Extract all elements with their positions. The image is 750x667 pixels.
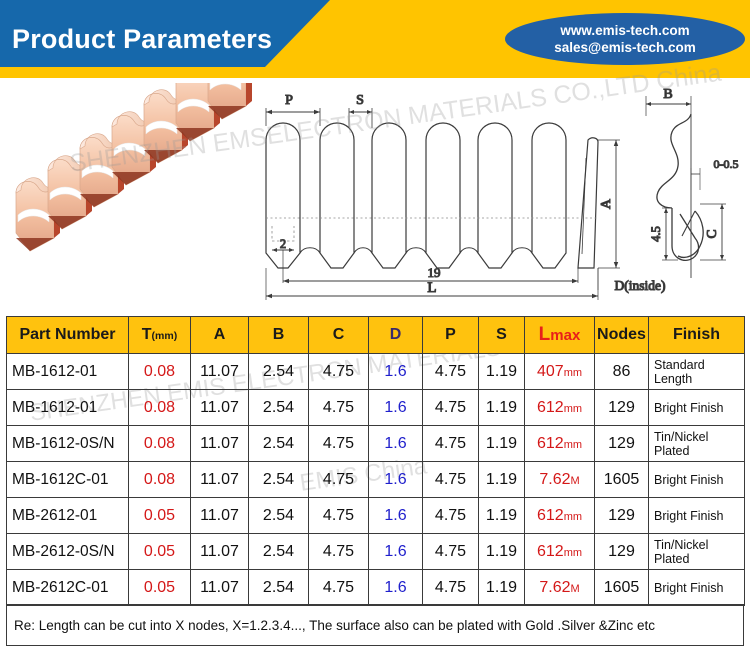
cell-part-number: MB-2612-0S/N [7,534,129,570]
parameters-table-wrap: Part Number T(mm) A B C D P S Lmax Nodes… [6,316,744,606]
dim-label-a: A [599,198,614,209]
col-part-number: Part Number [7,317,129,354]
cell-d: 1.6 [369,570,423,606]
cell-s: 1.19 [479,426,525,462]
cell-nodes: 129 [595,534,649,570]
dim-label-2: 2 [280,237,286,251]
cell-lmax-unit: mm [564,439,582,451]
cell-d: 1.6 [369,498,423,534]
cell-p: 4.75 [423,462,479,498]
cell-d: 1.6 [369,354,423,390]
col-lmax: Lmax [525,317,595,354]
cell-b: 2.54 [249,390,309,426]
cell-thickness: 0.08 [129,462,191,498]
cell-d: 1.6 [369,462,423,498]
table-row: MB-1612C-010.0811.072.544.751.64.751.197… [7,462,745,498]
cell-d: 1.6 [369,426,423,462]
cell-lmax-unit: mm [564,367,582,379]
cell-s: 1.19 [479,354,525,390]
dim-label-b: B [663,87,672,102]
cell-lmax-value: 612 [537,435,564,452]
col-d: D [369,317,423,354]
table-row: MB-2612-010.0511.072.544.751.64.751.1961… [7,498,745,534]
cell-finish: Standard Length [649,354,745,390]
cell-lmax-value: 7.62 [539,579,570,596]
col-b: B [249,317,309,354]
parameters-table: Part Number T(mm) A B C D P S Lmax Nodes… [6,316,745,606]
cell-part-number: MB-2612C-01 [7,570,129,606]
cell-lmax-value: 612 [537,399,564,416]
cell-a: 11.07 [191,354,249,390]
cell-a: 11.07 [191,498,249,534]
cell-part-number: MB-1612-0S/N [7,426,129,462]
footnote: Re: Length can be cut into X nodes, X=1.… [6,604,744,646]
cell-lmax: 407mm [525,354,595,390]
dim-label-4-5: 4.5 [649,226,663,242]
cell-finish: Tin/Nickel Plated [649,426,745,462]
col-lmax-l: L [539,324,551,345]
col-s: S [479,317,525,354]
dim-label-c: C [704,229,719,238]
cell-part-number: MB-2612-01 [7,498,129,534]
cell-c: 4.75 [309,390,369,426]
cell-lmax-unit: mm [564,547,582,559]
cell-thickness: 0.08 [129,354,191,390]
cell-b: 2.54 [249,354,309,390]
cell-finish: Bright Finish [649,498,745,534]
cell-c: 4.75 [309,462,369,498]
col-a: A [191,317,249,354]
cell-p: 4.75 [423,354,479,390]
cell-nodes: 86 [595,354,649,390]
cell-b: 2.54 [249,498,309,534]
dim-label-d-inside: D(inside) [615,278,666,293]
cell-b: 2.54 [249,426,309,462]
page-title: Product Parameters [12,24,272,55]
cell-p: 4.75 [423,534,479,570]
table-header-row: Part Number T(mm) A B C D P S Lmax Nodes… [7,317,745,354]
cell-s: 1.19 [479,570,525,606]
cell-finish: Tin/Nickel Plated [649,534,745,570]
cell-finish: Bright Finish [649,570,745,606]
col-t-label: T [142,326,152,343]
cell-thickness: 0.08 [129,390,191,426]
table-row: MB-1612-010.0811.072.544.751.64.751.1940… [7,354,745,390]
cell-d: 1.6 [369,534,423,570]
col-t-unit: (mm) [152,330,178,342]
col-lmax-max: max [550,327,580,344]
contact-email[interactable]: sales@emis-tech.com [554,40,695,56]
cell-lmax: 612mm [525,498,595,534]
cell-lmax: 612mm [525,390,595,426]
cell-d: 1.6 [369,390,423,426]
cell-c: 4.75 [309,570,369,606]
technical-drawing: P S [248,78,750,310]
cell-nodes: 1605 [595,462,649,498]
cell-nodes: 129 [595,498,649,534]
cell-b: 2.54 [249,462,309,498]
drawing-area: P S [0,78,750,310]
cell-finish: Bright Finish [649,462,745,498]
cell-nodes: 129 [595,426,649,462]
cell-lmax-unit: M [570,583,579,595]
cell-lmax-value: 7.62 [539,471,570,488]
cell-thickness: 0.05 [129,570,191,606]
cell-lmax-value: 407 [537,363,564,380]
contact-website[interactable]: www.emis-tech.com [560,23,689,39]
dim-label-s: S [356,93,364,108]
cell-thickness: 0.05 [129,498,191,534]
cell-lmax-value: 612 [537,507,564,524]
cell-lmax: 612mm [525,534,595,570]
cell-lmax: 7.62M [525,462,595,498]
cell-lmax: 612mm [525,426,595,462]
cell-p: 4.75 [423,570,479,606]
col-thickness: T(mm) [129,317,191,354]
dim-label-p: P [285,93,293,108]
cell-a: 11.07 [191,390,249,426]
cell-c: 4.75 [309,354,369,390]
cell-a: 11.07 [191,534,249,570]
cell-part-number: MB-1612C-01 [7,462,129,498]
cell-c: 4.75 [309,534,369,570]
dim-label-gap: 0-0.5 [714,157,739,171]
cell-part-number: MB-1612-01 [7,354,129,390]
cell-a: 11.07 [191,462,249,498]
table-row: MB-1612-0S/N0.0811.072.544.751.64.751.19… [7,426,745,462]
dim-label-l: L [427,280,436,296]
cell-nodes: 129 [595,390,649,426]
cell-c: 4.75 [309,426,369,462]
cell-p: 4.75 [423,426,479,462]
cell-p: 4.75 [423,498,479,534]
cell-s: 1.19 [479,390,525,426]
cell-p: 4.75 [423,390,479,426]
cross-section-profile [657,114,691,208]
product-photo [8,83,253,278]
table-row: MB-2612C-010.0511.072.544.751.64.751.197… [7,570,745,606]
cell-lmax-unit: mm [564,403,582,415]
header-banner: Product Parameters www.emis-tech.com sal… [0,0,750,78]
cell-thickness: 0.08 [129,426,191,462]
col-c: C [309,317,369,354]
cell-lmax: 7.62M [525,570,595,606]
cell-lmax-unit: M [570,475,579,487]
cell-nodes: 1605 [595,570,649,606]
col-nodes: Nodes [595,317,649,354]
dim-label-19: 19 [428,265,441,280]
table-row: MB-2612-0S/N0.0511.072.544.751.64.751.19… [7,534,745,570]
cell-a: 11.07 [191,426,249,462]
cell-lmax-unit: mm [564,511,582,523]
table-row: MB-1612-010.0811.072.544.751.64.751.1961… [7,390,745,426]
contact-badge: www.emis-tech.com sales@emis-tech.com [505,13,745,65]
col-finish: Finish [649,317,745,354]
cell-c: 4.75 [309,498,369,534]
cell-s: 1.19 [479,498,525,534]
cell-s: 1.19 [479,534,525,570]
header-yellow-strip [0,67,750,78]
cell-finish: Bright Finish [649,390,745,426]
cell-part-number: MB-1612-01 [7,390,129,426]
cell-lmax-value: 612 [537,543,564,560]
cell-b: 2.54 [249,534,309,570]
cell-thickness: 0.05 [129,534,191,570]
cell-s: 1.19 [479,462,525,498]
col-p: P [423,317,479,354]
table-body: MB-1612-010.0811.072.544.751.64.751.1940… [7,354,745,606]
cell-b: 2.54 [249,570,309,606]
cell-a: 11.07 [191,570,249,606]
